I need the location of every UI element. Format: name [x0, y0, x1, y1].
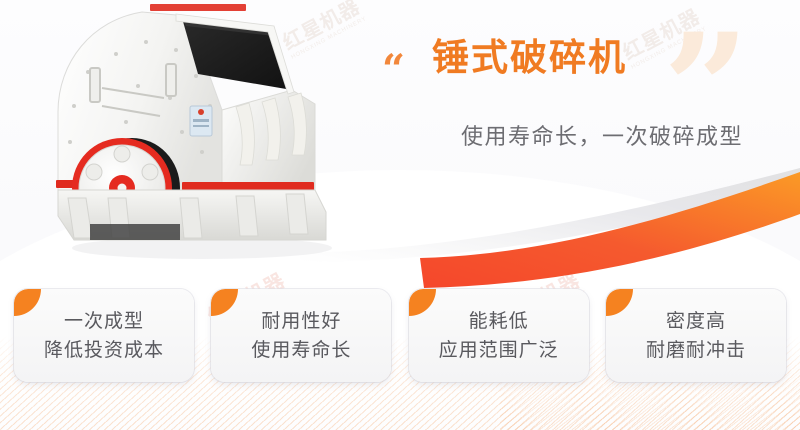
feature-card-list: 一次成型 降低投资成本 耐用性好 使用寿命长 能耗低 应用范围广泛 密度高 耐磨…: [14, 289, 786, 382]
feature-line-1: 耐用性好: [261, 307, 341, 336]
corner-accent-icon: [606, 289, 633, 316]
feature-card[interactable]: 能耗低 应用范围广泛: [409, 289, 589, 382]
hammer-crusher-icon: [30, 2, 360, 264]
feature-line-2: 降低投资成本: [44, 336, 164, 365]
product-image: [30, 2, 360, 264]
feature-line-1: 能耗低: [469, 307, 529, 336]
headline-block: ” “ 锤式破碎机 使用寿命长，一次破碎成型: [380, 34, 780, 82]
feature-card[interactable]: 一次成型 降低投资成本: [14, 289, 194, 382]
feature-card[interactable]: 耐用性好 使用寿命长: [211, 289, 391, 382]
corner-accent-icon: [211, 289, 238, 316]
corner-accent-icon: [14, 289, 41, 316]
product-banner: 红星机器HONGXING MACHINERY 红星机器HONGXING MACH…: [0, 0, 800, 430]
feature-line-2: 耐磨耐冲击: [646, 336, 746, 365]
feature-line-1: 一次成型: [64, 307, 144, 336]
page-title: 锤式破碎机: [432, 34, 780, 82]
corner-accent-icon: [409, 289, 436, 316]
feature-card[interactable]: 密度高 耐磨耐冲击: [606, 289, 786, 382]
feature-line-2: 使用寿命长: [251, 336, 351, 365]
feature-line-2: 应用范围广泛: [439, 336, 559, 365]
page-subtitle: 使用寿命长，一次破碎成型: [432, 122, 772, 152]
quote-open-icon: “: [382, 50, 403, 90]
feature-line-1: 密度高: [666, 307, 726, 336]
